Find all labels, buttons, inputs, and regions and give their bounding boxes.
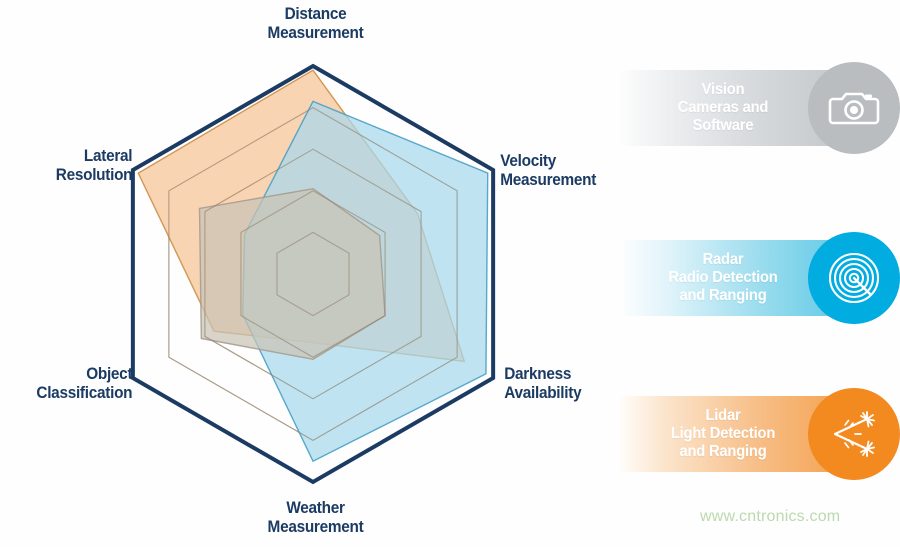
- legend-line: Software: [693, 117, 754, 135]
- axis-label-line: Distance: [253, 5, 379, 24]
- legend-line: Lidar: [705, 407, 740, 425]
- legend-card-lidar[interactable]: Lidar Light Detection and Ranging: [620, 388, 900, 480]
- legend-line: Radio Detection: [668, 269, 777, 287]
- radar-chart-svg: [0, 0, 640, 547]
- legend-line: Radar: [703, 251, 744, 269]
- axis-label-lateral-resolution: Lateral Resolution: [7, 147, 133, 186]
- radar-chart-area: Distance Measurement Velocity Measuremen…: [0, 0, 640, 547]
- watermark-text: www.cntronics.com: [700, 508, 840, 526]
- series-polygons-group: [138, 70, 487, 461]
- legend-label-lidar: Lidar Light Detection and Ranging: [625, 396, 821, 472]
- axis-label-line: Lateral: [7, 147, 133, 166]
- legend-line: and Ranging: [679, 443, 766, 461]
- axis-label-line: Object: [7, 365, 133, 384]
- legend-panel: Vision Cameras and Software Radar: [615, 0, 900, 547]
- legend-line: Light Detection: [671, 425, 775, 443]
- legend-line: and Ranging: [679, 287, 766, 305]
- legend-card-vision[interactable]: Vision Cameras and Software: [620, 62, 900, 154]
- axis-label-line: Weather: [253, 499, 379, 518]
- axis-label-object-classification: Object Classification: [7, 365, 133, 404]
- legend-icon-circle-vision: [808, 62, 900, 154]
- axis-label-line: Measurement: [253, 24, 379, 43]
- legend-icon-circle-lidar: [808, 388, 900, 480]
- axis-label-line: Measurement: [253, 518, 379, 537]
- legend-card-radar[interactable]: Radar Radio Detection and Ranging: [620, 232, 900, 324]
- axis-label-weather-measurement: Weather Measurement: [253, 499, 379, 538]
- legend-icon-circle-radar: [808, 232, 900, 324]
- legend-label-radar: Radar Radio Detection and Ranging: [625, 240, 821, 316]
- legend-label-vision: Vision Cameras and Software: [625, 70, 821, 146]
- camera-icon: [828, 82, 880, 134]
- legend-line: Cameras and: [678, 99, 768, 117]
- radar-chart-infographic: Distance Measurement Velocity Measuremen…: [0, 0, 900, 547]
- axis-label-line: Classification: [7, 384, 133, 403]
- radar-waves-icon: [826, 250, 882, 306]
- laser-beam-icon: [825, 405, 883, 463]
- axis-label-line: Resolution: [7, 166, 133, 185]
- axis-label-distance-measurement: Distance Measurement: [253, 5, 379, 44]
- legend-line: Vision: [702, 81, 745, 99]
